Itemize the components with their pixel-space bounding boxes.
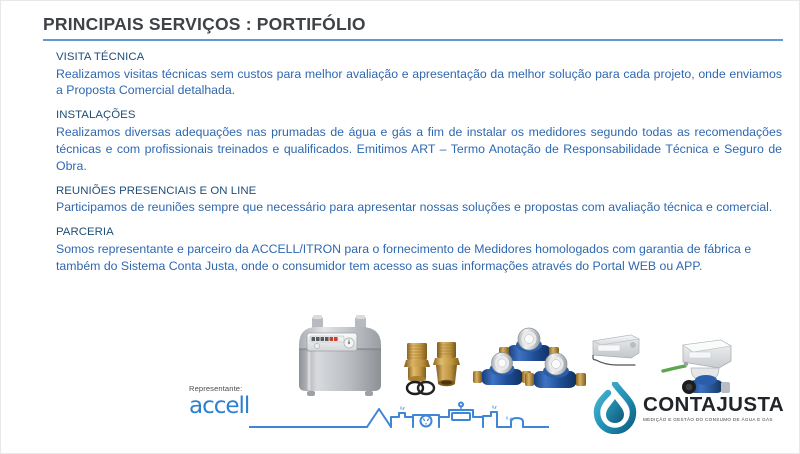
section-heading: REUNIÕES PRESENCIAIS E ON LINE: [56, 184, 782, 200]
section-heading: VISITA TÉCNICA: [56, 50, 782, 66]
contajusta-name: CONTAJUSTA: [643, 395, 784, 416]
section-body: Realizamos visitas técnicas sem custos p…: [56, 66, 782, 100]
title-underline-rule: [43, 39, 783, 41]
accell-logo: accell: [189, 395, 249, 418]
representante-block: Representante: accell: [189, 384, 249, 418]
page-title: PRINCIPAIS SERVIÇOS : PORTIFÓLIO: [43, 15, 783, 34]
contajusta-tagline: MEDIÇÃO E GESTÃO DO CONSUMO DE ÁGUA E GÁ…: [643, 418, 784, 423]
section-heading: INSTALAÇÕES: [56, 108, 782, 124]
services-content: VISITA TÉCNICA Realizamos visitas técnic…: [56, 50, 782, 275]
contajusta-wordmark: CONTAJUSTA MEDIÇÃO E GESTÃO DO CONSUMO D…: [643, 393, 784, 423]
telemetry-module-photo: [589, 331, 643, 371]
brass-fittings-photo: [401, 339, 471, 399]
plumbing-skyline-line-art-icon: [249, 397, 549, 435]
section-instalacoes: INSTALAÇÕES Realizamos diversas adequaçõ…: [56, 108, 782, 174]
section-body: Somos representante e parceiro da ACCELL…: [56, 241, 782, 275]
section-heading: PARCERIA: [56, 225, 782, 241]
section-body: Realizamos diversas adequações nas pruma…: [56, 124, 782, 175]
section-reunioes: REUNIÕES PRESENCIAIS E ON LINE Participa…: [56, 184, 782, 216]
gas-meter-photo: [291, 315, 403, 401]
contajusta-logo: CONTAJUSTA MEDIÇÃO E GESTÃO DO CONSUMO D…: [593, 382, 784, 434]
water-drop-icon: [593, 382, 637, 434]
section-parceria: PARCERIA Somos representante e parceiro …: [56, 225, 782, 274]
representante-label: Representante:: [189, 384, 249, 393]
slide-canvas: PRINCIPAIS SERVIÇOS : PORTIFÓLIO VISITA …: [0, 0, 800, 454]
section-visita-tecnica: VISITA TÉCNICA Realizamos visitas técnic…: [56, 50, 782, 99]
section-body: Participamos de reuniões sempre que nece…: [56, 199, 782, 216]
slide-header: PRINCIPAIS SERVIÇOS : PORTIFÓLIO: [43, 15, 783, 41]
